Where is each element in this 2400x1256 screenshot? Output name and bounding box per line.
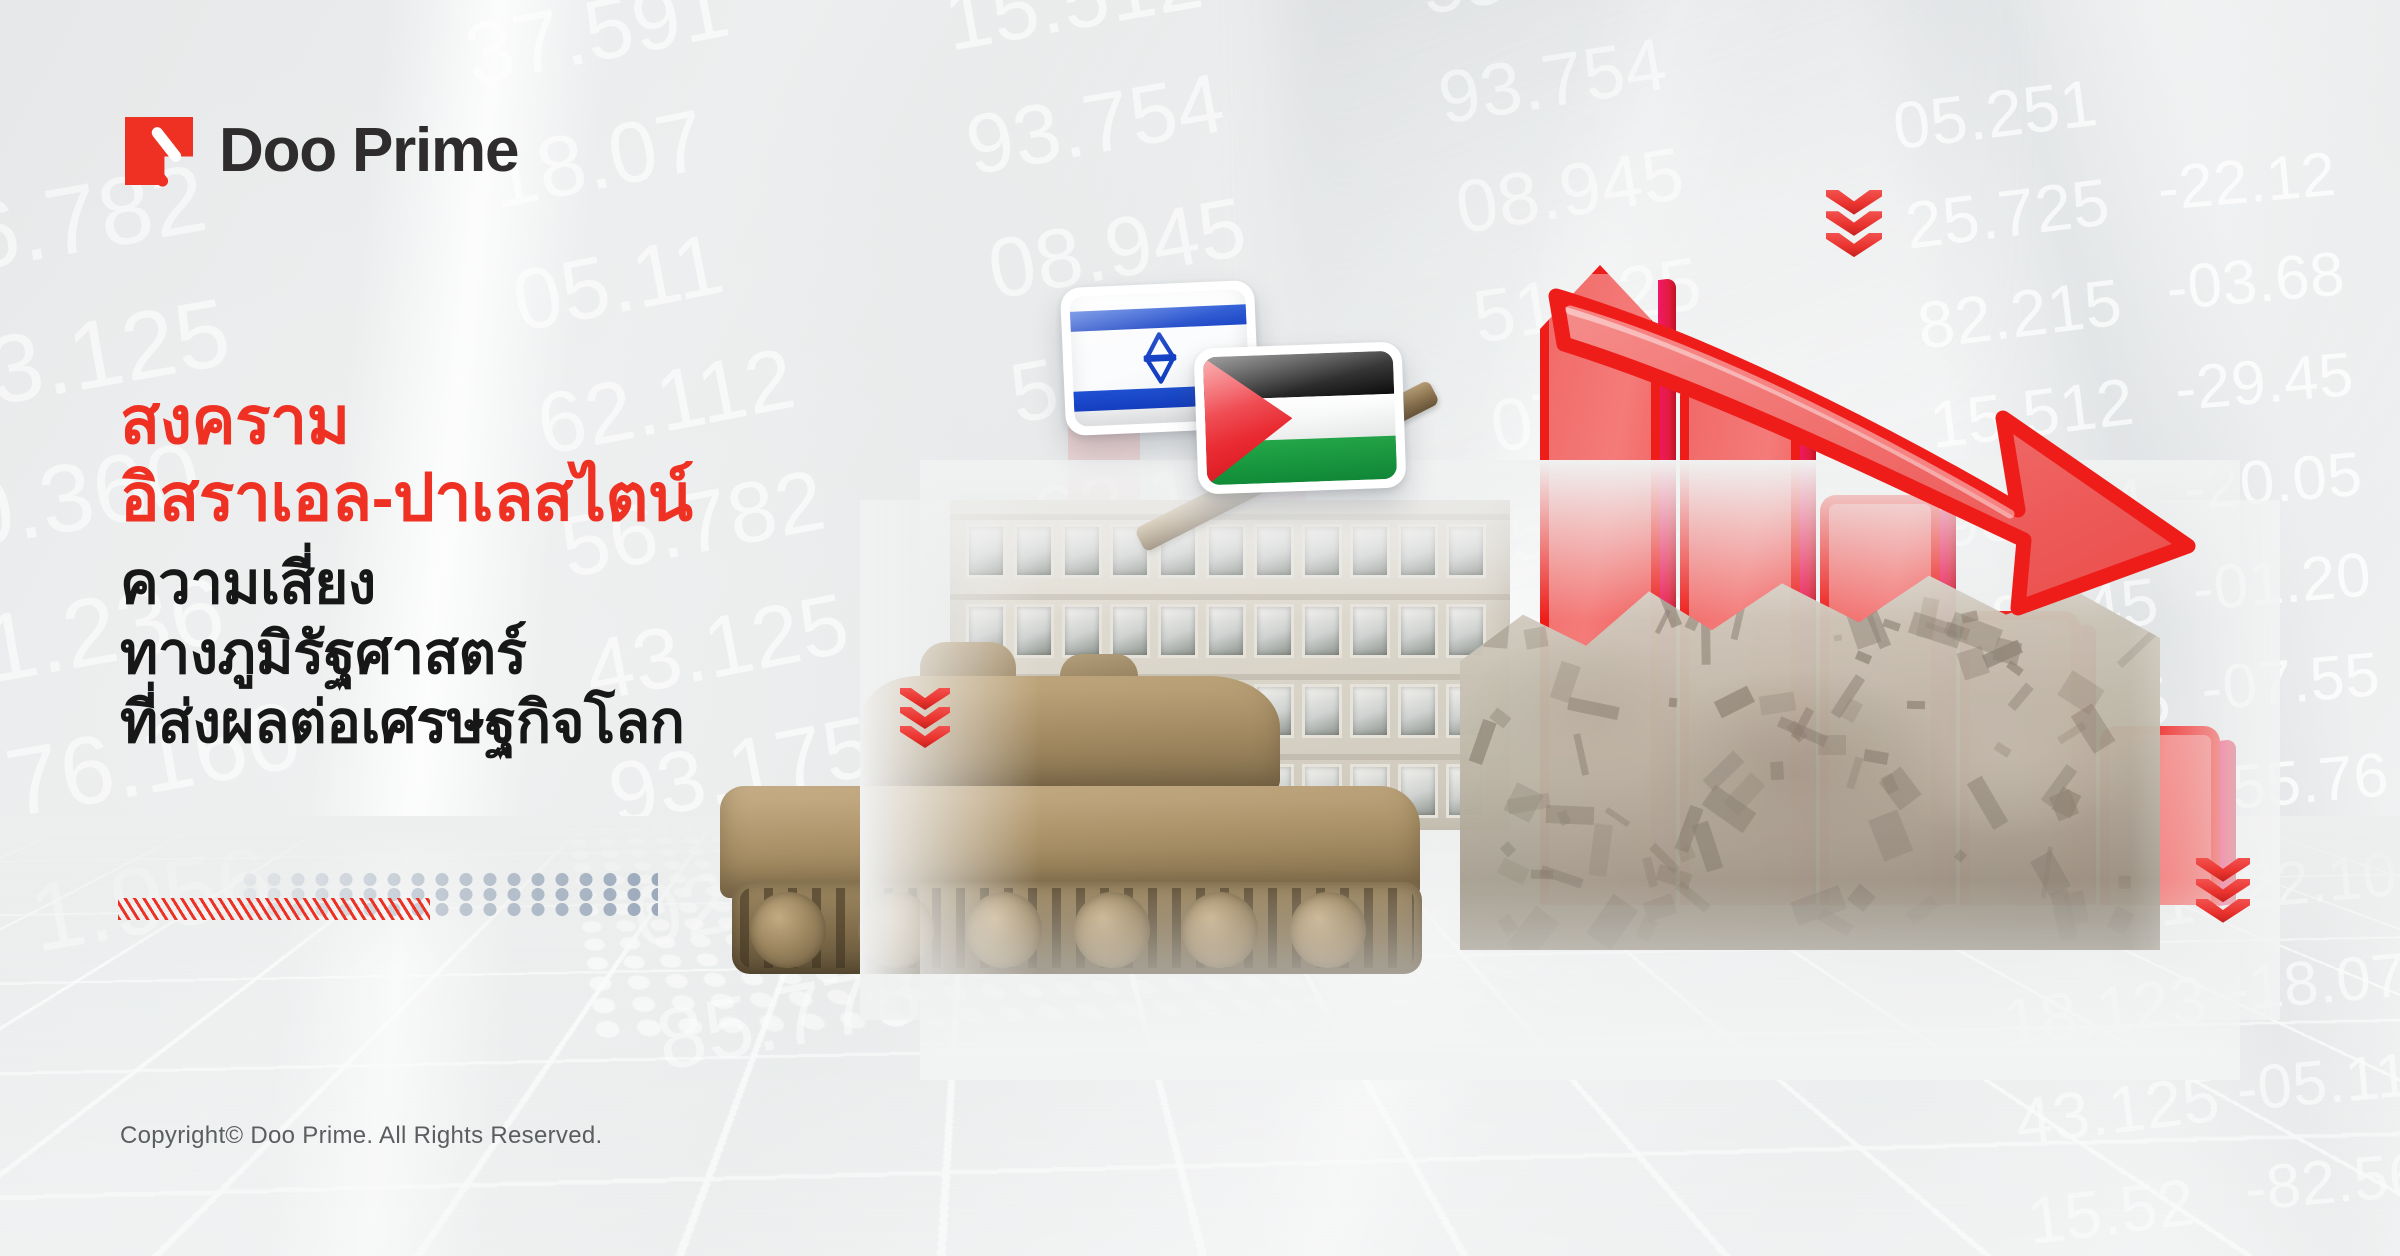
rubble-fragment: [1675, 881, 1711, 913]
rubble-fragment: [1573, 734, 1589, 777]
palestine-flag-icon: [1194, 341, 1407, 494]
rubble-fragment: [1550, 661, 1581, 704]
palestine-flag-gloss: [1203, 351, 1397, 486]
building-window: [1254, 524, 1294, 578]
building-window: [1302, 524, 1342, 578]
headline-dark-line-2: ทางภูมิรัฐศาสตร์: [120, 619, 960, 689]
watermark-number: -22.12: [2153, 125, 2340, 241]
chevron-down-icon: [900, 726, 950, 748]
watermark-number: -76.16: [2250, 1225, 2400, 1256]
rubble-fragment: [1468, 719, 1496, 765]
rubble-fragment: [1568, 697, 1620, 720]
chevron-group-middle-left: [900, 688, 950, 745]
rubble-fragment: [2057, 671, 2104, 716]
rubble-fragment: [1546, 805, 1594, 825]
brand-logo[interactable]: Doo Prime: [125, 117, 518, 185]
headline-red-line-2: อิสราเอล-ปาเลสไตน์: [120, 459, 960, 536]
doo-prime-mark-icon: [125, 117, 193, 185]
rubble-fragment: [1770, 762, 1784, 781]
watermark-number: 93.754: [956, 39, 1234, 208]
rubble-fragment: [2008, 683, 2034, 711]
watermark-number: 18.07: [479, 68, 764, 242]
decorative-divider: [118, 872, 658, 930]
chevron-down-icon: [1826, 190, 1882, 215]
banner-canvas: 56.78243.1250.3601.23676.1601.956 37.591…: [0, 0, 2400, 1256]
chevron-down-icon: [1826, 211, 1882, 236]
rubble-fragment: [1507, 906, 1559, 962]
watermark-number: -82.56: [2241, 1125, 2400, 1241]
building-window: [1350, 524, 1390, 578]
building-window: [1446, 524, 1486, 578]
double-chevron-down-icon: [900, 688, 950, 748]
rubble-fragment: [1589, 824, 1614, 878]
rubble-fragment: [1879, 767, 1921, 811]
rubble-fragment: [1498, 857, 1531, 885]
building-floor-line: [950, 514, 1510, 520]
watermark-number: 37.591: [455, 0, 740, 119]
rubble-fragment: [1847, 883, 1876, 912]
headline-dark-line-1: ความเสี่ยง: [120, 549, 960, 619]
rubble-fragment: [1954, 849, 1967, 862]
headline-red-line-1: สงคราม: [120, 382, 960, 459]
rubble-fragment: [1701, 615, 1711, 665]
rubble-debris-image: [1460, 560, 2160, 950]
watermark-number: 05.251: [1887, 52, 2103, 177]
rubble-fragment: [2118, 876, 2130, 889]
brand-name: Doo Prime: [219, 120, 518, 182]
watermark-number: 25.725: [1900, 152, 2116, 277]
copyright-text: Copyright© Doo Prime. All Rights Reserve…: [120, 1122, 602, 1150]
rubble-fragment: [1731, 586, 1749, 640]
rubble-fragment: [1855, 650, 1873, 664]
rubble-fragment: [1863, 749, 1889, 765]
tank-road-wheel: [1182, 892, 1258, 968]
rubble-fragment: [1586, 894, 1638, 950]
building-window: [966, 524, 1006, 578]
chevron-down-icon: [2196, 899, 2250, 923]
war-scene-montage: [920, 500, 2240, 1020]
watermark-number: 93.754: [1431, 8, 1675, 154]
chevron-down-icon: [2196, 858, 2250, 882]
rubble-fragment: [1684, 612, 1701, 632]
watermark-number: 43.125: [2010, 1048, 2226, 1173]
tank-road-wheel: [750, 892, 826, 968]
rubble-fragment: [1642, 857, 1658, 889]
double-chevron-down-icon: [2196, 858, 2250, 923]
chevron-down-icon: [1826, 233, 1882, 258]
rubble-fragment: [1818, 735, 1846, 755]
chevron-group-bottom-right: [2196, 858, 2250, 920]
watermark-number: -05.11: [2232, 1025, 2400, 1141]
chevron-down-icon: [900, 688, 950, 710]
rubble-fragment: [1906, 895, 1940, 925]
building-window: [1062, 524, 1102, 578]
rubble-fragment: [1713, 685, 1754, 718]
rubble-fragment: [1966, 776, 2008, 830]
watermark-number: 05.11: [503, 191, 788, 365]
rubble-fragment: [1642, 894, 1677, 923]
rubble-fragment: [1907, 701, 1925, 709]
double-chevron-down-icon: [1826, 190, 1882, 257]
rubble-fragment: [1500, 841, 1516, 857]
rubble-fragment: [2006, 660, 2024, 677]
rubble-fragment: [2117, 630, 2157, 668]
watermark-number: 08.945: [1448, 117, 1692, 263]
building-window: [1206, 524, 1246, 578]
chevron-group-top-right: [1826, 190, 1882, 254]
chevron-down-icon: [2196, 879, 2250, 903]
tank-road-wheel: [858, 892, 934, 968]
building-floor-line: [950, 594, 1510, 600]
tank-road-wheel: [1290, 892, 1366, 968]
rubble-fragment: [1759, 692, 1797, 716]
building-window: [1398, 524, 1438, 578]
chevron-down-icon: [900, 707, 950, 729]
rubble-fragment: [1669, 697, 1678, 707]
tank-road-wheel: [966, 892, 1042, 968]
rubble-fragment: [1531, 870, 1553, 879]
headline-block: สงคราม อิสราเอล-ปาเลสไตน์ ความเสี่ยง ทาง…: [120, 382, 960, 758]
rubble-fragment: [1523, 626, 1548, 650]
watermark-number: -18.07: [2223, 925, 2400, 1041]
palestine-flag-field: [1203, 351, 1397, 486]
building-window: [1014, 524, 1054, 578]
rubble-fragment: [1869, 810, 1914, 862]
watermark-number: 55.512: [1413, 0, 1657, 44]
decor-red-stripes: [118, 898, 430, 920]
watermark-number: 15.512: [934, 0, 1212, 84]
headline-spacer: [120, 535, 960, 549]
watermark-number: 15.52: [2022, 1147, 2238, 1256]
headline-dark-line-3: ที่ส่งผลต่อเศรษฐกิจโลก: [120, 688, 960, 758]
rubble-fragment: [1993, 742, 2011, 758]
rubble-fragment: [1834, 635, 1843, 642]
rubble-fragment: [2106, 906, 2134, 935]
tank-road-wheel: [1074, 892, 1150, 968]
rubble-fragment: [1846, 756, 1863, 789]
